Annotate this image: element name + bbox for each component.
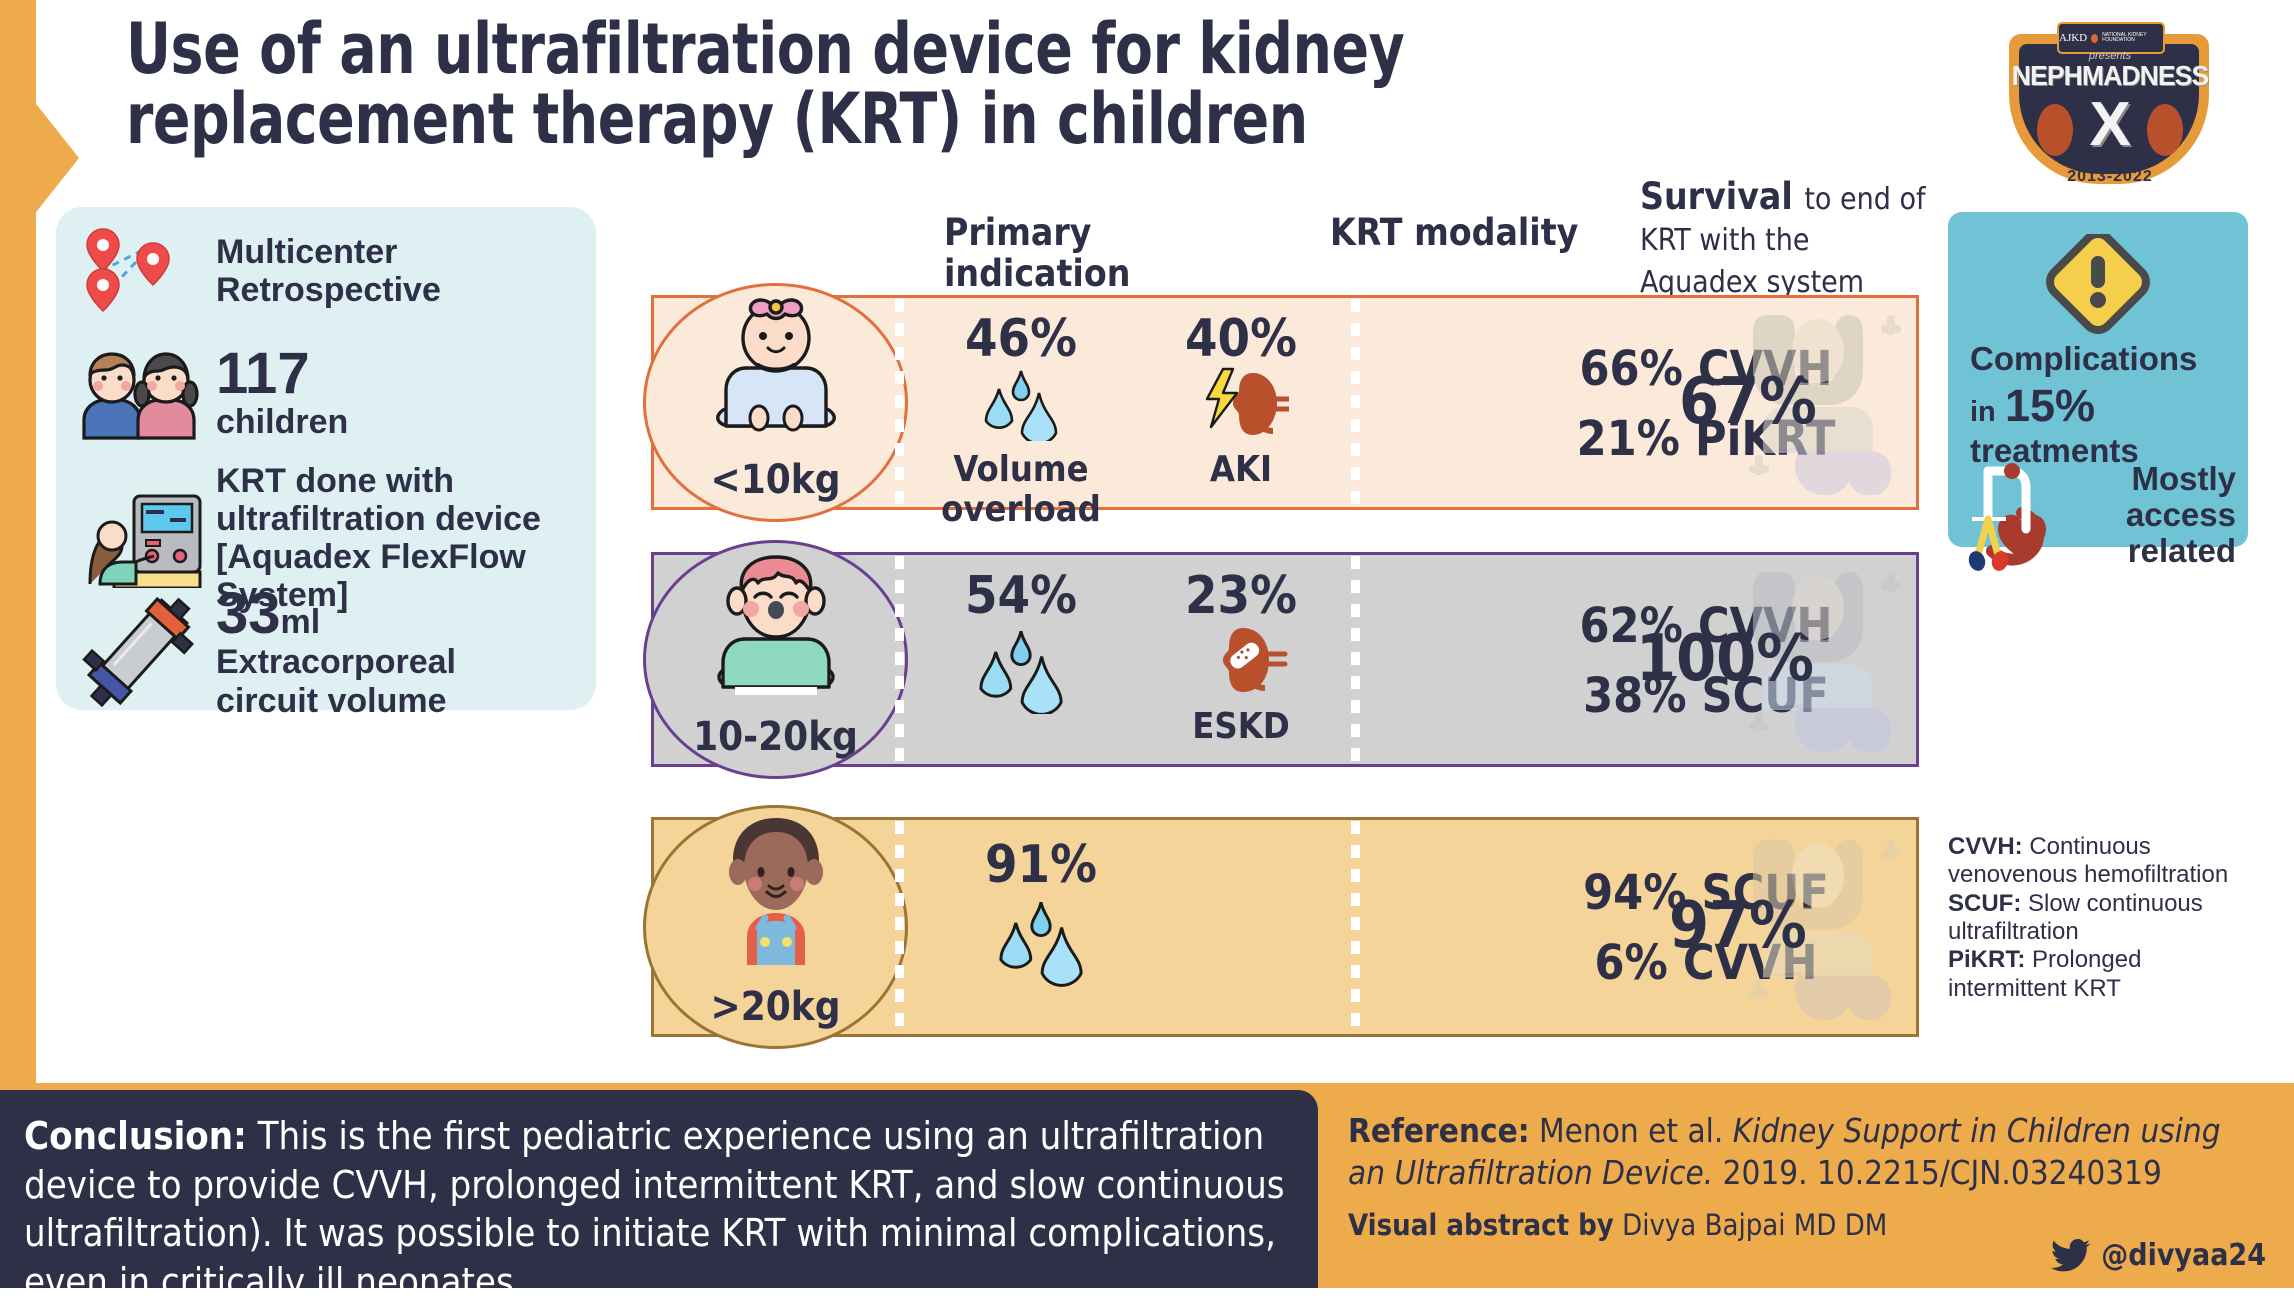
row-divider bbox=[1351, 299, 1360, 506]
volume-unit: ml bbox=[281, 603, 321, 641]
catheter-heart-icon bbox=[1962, 457, 2072, 573]
credit-label: Visual abstract by bbox=[1348, 1208, 1614, 1242]
kidney-lightning-icon bbox=[1193, 365, 1289, 441]
logo-nkf-text: NATIONAL KIDNEY FOUNDATION bbox=[2102, 33, 2163, 44]
nephmadness-logo: AJKD NATIONAL KIDNEY FOUNDATION presents… bbox=[1995, 8, 2225, 198]
water-drops-icon bbox=[966, 622, 1076, 714]
warning-triangle-icon bbox=[2038, 234, 2158, 343]
column-header-krt-modality: KRT modality bbox=[1330, 212, 1610, 253]
conclusion-panel: Conclusion: This is the first pediatric … bbox=[0, 1090, 1318, 1288]
volume-label: Extracorporeal circuit volume bbox=[216, 643, 546, 721]
row-divider bbox=[1351, 556, 1360, 763]
conclusion-text: Conclusion: This is the first pediatric … bbox=[24, 1112, 1294, 1307]
survival-value: 97% bbox=[1669, 889, 1807, 963]
kidney-bandage-icon bbox=[1193, 622, 1289, 698]
volume-value-row: 33ml bbox=[216, 585, 546, 643]
survival-bold-text: Survival bbox=[1640, 175, 1793, 218]
table-row: 10-20kg 54% 23% ESKD 62% CVVH bbox=[651, 552, 1919, 767]
complications-panel: Complications in 15% treatments Mostly a… bbox=[1948, 212, 2248, 547]
toddler-boy-icon bbox=[701, 547, 851, 697]
twitter-bird-icon bbox=[2051, 1239, 2091, 1273]
visual-abstract-poster: Use of an ultrafiltration device for kid… bbox=[0, 0, 2294, 1288]
complications-access-label: Mostly access related bbox=[2078, 461, 2236, 570]
reference-text: Reference: Menon et al. Kidney Support i… bbox=[1348, 1110, 2248, 1193]
table-row: <10kg 46% Volume overload 40% AKI 66 bbox=[651, 295, 1919, 510]
legend-abbr: SCUF: bbox=[1948, 890, 2021, 917]
row-divider bbox=[1351, 821, 1360, 1033]
column-header-survival: Survival to end of KRT with the Aquadex … bbox=[1640, 176, 1930, 300]
credit-name: Divya Bajpai MD DM bbox=[1614, 1208, 1888, 1242]
ribbon-arrow-tab bbox=[33, 100, 79, 216]
legend-item: CVVH: Continuous venovenous hemofiltrati… bbox=[1948, 833, 2248, 890]
indication-volume-overload: 46% Volume overload bbox=[931, 313, 1111, 529]
indication-volume-overload: 54% bbox=[931, 570, 1111, 723]
filter-cartridge-icon bbox=[66, 594, 216, 712]
handle-text: @divyaa24 bbox=[2101, 1238, 2266, 1273]
complications-text: Complications in 15% treatments bbox=[1970, 340, 2234, 471]
indication-volume-overload: 91% bbox=[951, 839, 1131, 996]
legend-abbr: PiKRT: bbox=[1948, 946, 2025, 973]
children-count: 117 bbox=[216, 345, 348, 403]
logo-nkf-dot-icon bbox=[2091, 34, 2098, 43]
abbreviation-legend: CVVH: Continuous venovenous hemofiltrati… bbox=[1948, 833, 2248, 1003]
age-bubble-10-20kg: 10-20kg bbox=[643, 540, 908, 779]
visual-abstract-credit: Visual abstract by Divya Bajpai MD DM bbox=[1348, 1208, 1887, 1242]
reference-authors: Menon et al. bbox=[1530, 1111, 1733, 1150]
water-drops-icon bbox=[986, 891, 1096, 987]
children-label: children bbox=[216, 403, 348, 442]
logo-wordmark: NEPHMADNESS bbox=[2001, 60, 2220, 92]
indication-label: Volume overload bbox=[931, 450, 1111, 529]
info-children-block: 117 children bbox=[216, 345, 348, 442]
indication-pct: 91% bbox=[951, 839, 1131, 891]
row-divider bbox=[895, 299, 904, 506]
map-pins-icon bbox=[66, 221, 216, 321]
indication-aki: 40% AKI bbox=[1151, 313, 1331, 490]
water-drops-icon bbox=[973, 365, 1069, 441]
conclusion-label: Conclusion: bbox=[24, 1114, 247, 1158]
reference-label: Reference: bbox=[1348, 1111, 1530, 1150]
indication-pct: 46% bbox=[931, 313, 1111, 365]
complications-access-row: Mostly access related bbox=[1962, 457, 2236, 573]
logo-x-mark: X bbox=[1995, 94, 2225, 156]
legend-item: PiKRT: Prolonged intermittent KRT bbox=[1948, 946, 2248, 1003]
age-bubble-over-20kg: >20kg bbox=[643, 805, 908, 1049]
survival-value: 67% bbox=[1679, 365, 1817, 439]
column-header-primary-indication: Primary indication bbox=[944, 212, 1274, 295]
info-design-label: Multicenter Retrospective bbox=[216, 233, 586, 309]
row-divider bbox=[895, 821, 904, 1033]
row-divider bbox=[895, 556, 904, 763]
survival-value: 100% bbox=[1636, 622, 1814, 696]
indication-eskd: 23% ESKD bbox=[1151, 570, 1331, 747]
two-children-icon bbox=[66, 346, 216, 441]
complications-line1: Complications bbox=[1970, 340, 2197, 377]
info-item-children: 117 children bbox=[66, 345, 586, 442]
indication-label: ESKD bbox=[1151, 707, 1331, 747]
age-label: <10kg bbox=[646, 457, 905, 503]
indication-pct: 40% bbox=[1151, 313, 1331, 365]
legend-abbr: CVVH: bbox=[1948, 833, 2023, 860]
volume-value: 33 bbox=[216, 581, 281, 646]
dialysis-machine-icon bbox=[66, 488, 216, 588]
table-row: >20kg 91% 94% SCUF 6% CVVH 97% bbox=[651, 817, 1919, 1037]
indication-pct: 54% bbox=[931, 570, 1111, 622]
age-bubble-under-10kg: <10kg bbox=[643, 283, 908, 522]
study-info-panel: Multicenter Retrospective bbox=[56, 207, 596, 710]
indication-label: AKI bbox=[1151, 450, 1331, 490]
logo-ajkd-text: AJKD bbox=[2059, 32, 2087, 44]
indication-pct: 23% bbox=[1151, 570, 1331, 622]
page-title: Use of an ultrafiltration device for kid… bbox=[126, 14, 1736, 154]
age-label: 10-20kg bbox=[646, 714, 905, 760]
info-item-volume: 33ml Extracorporeal circuit volume bbox=[66, 585, 586, 721]
info-volume-block: 33ml Extracorporeal circuit volume bbox=[216, 585, 546, 721]
baby-girl-icon bbox=[701, 290, 851, 440]
complications-in: in bbox=[1970, 396, 1996, 428]
complications-pct: 15% bbox=[2005, 380, 2095, 431]
logo-years: 2013-2022 bbox=[1995, 168, 2225, 186]
older-child-icon bbox=[701, 810, 851, 965]
age-label: >20kg bbox=[646, 984, 905, 1030]
reference-year: 2019. 10.2215/CJN.03240319 bbox=[1713, 1153, 2162, 1192]
legend-item: SCUF: Slow continuous ultrafiltration bbox=[1948, 890, 2248, 947]
twitter-handle[interactable]: @divyaa24 bbox=[2051, 1238, 2266, 1273]
info-item-design: Multicenter Retrospective bbox=[66, 221, 586, 321]
